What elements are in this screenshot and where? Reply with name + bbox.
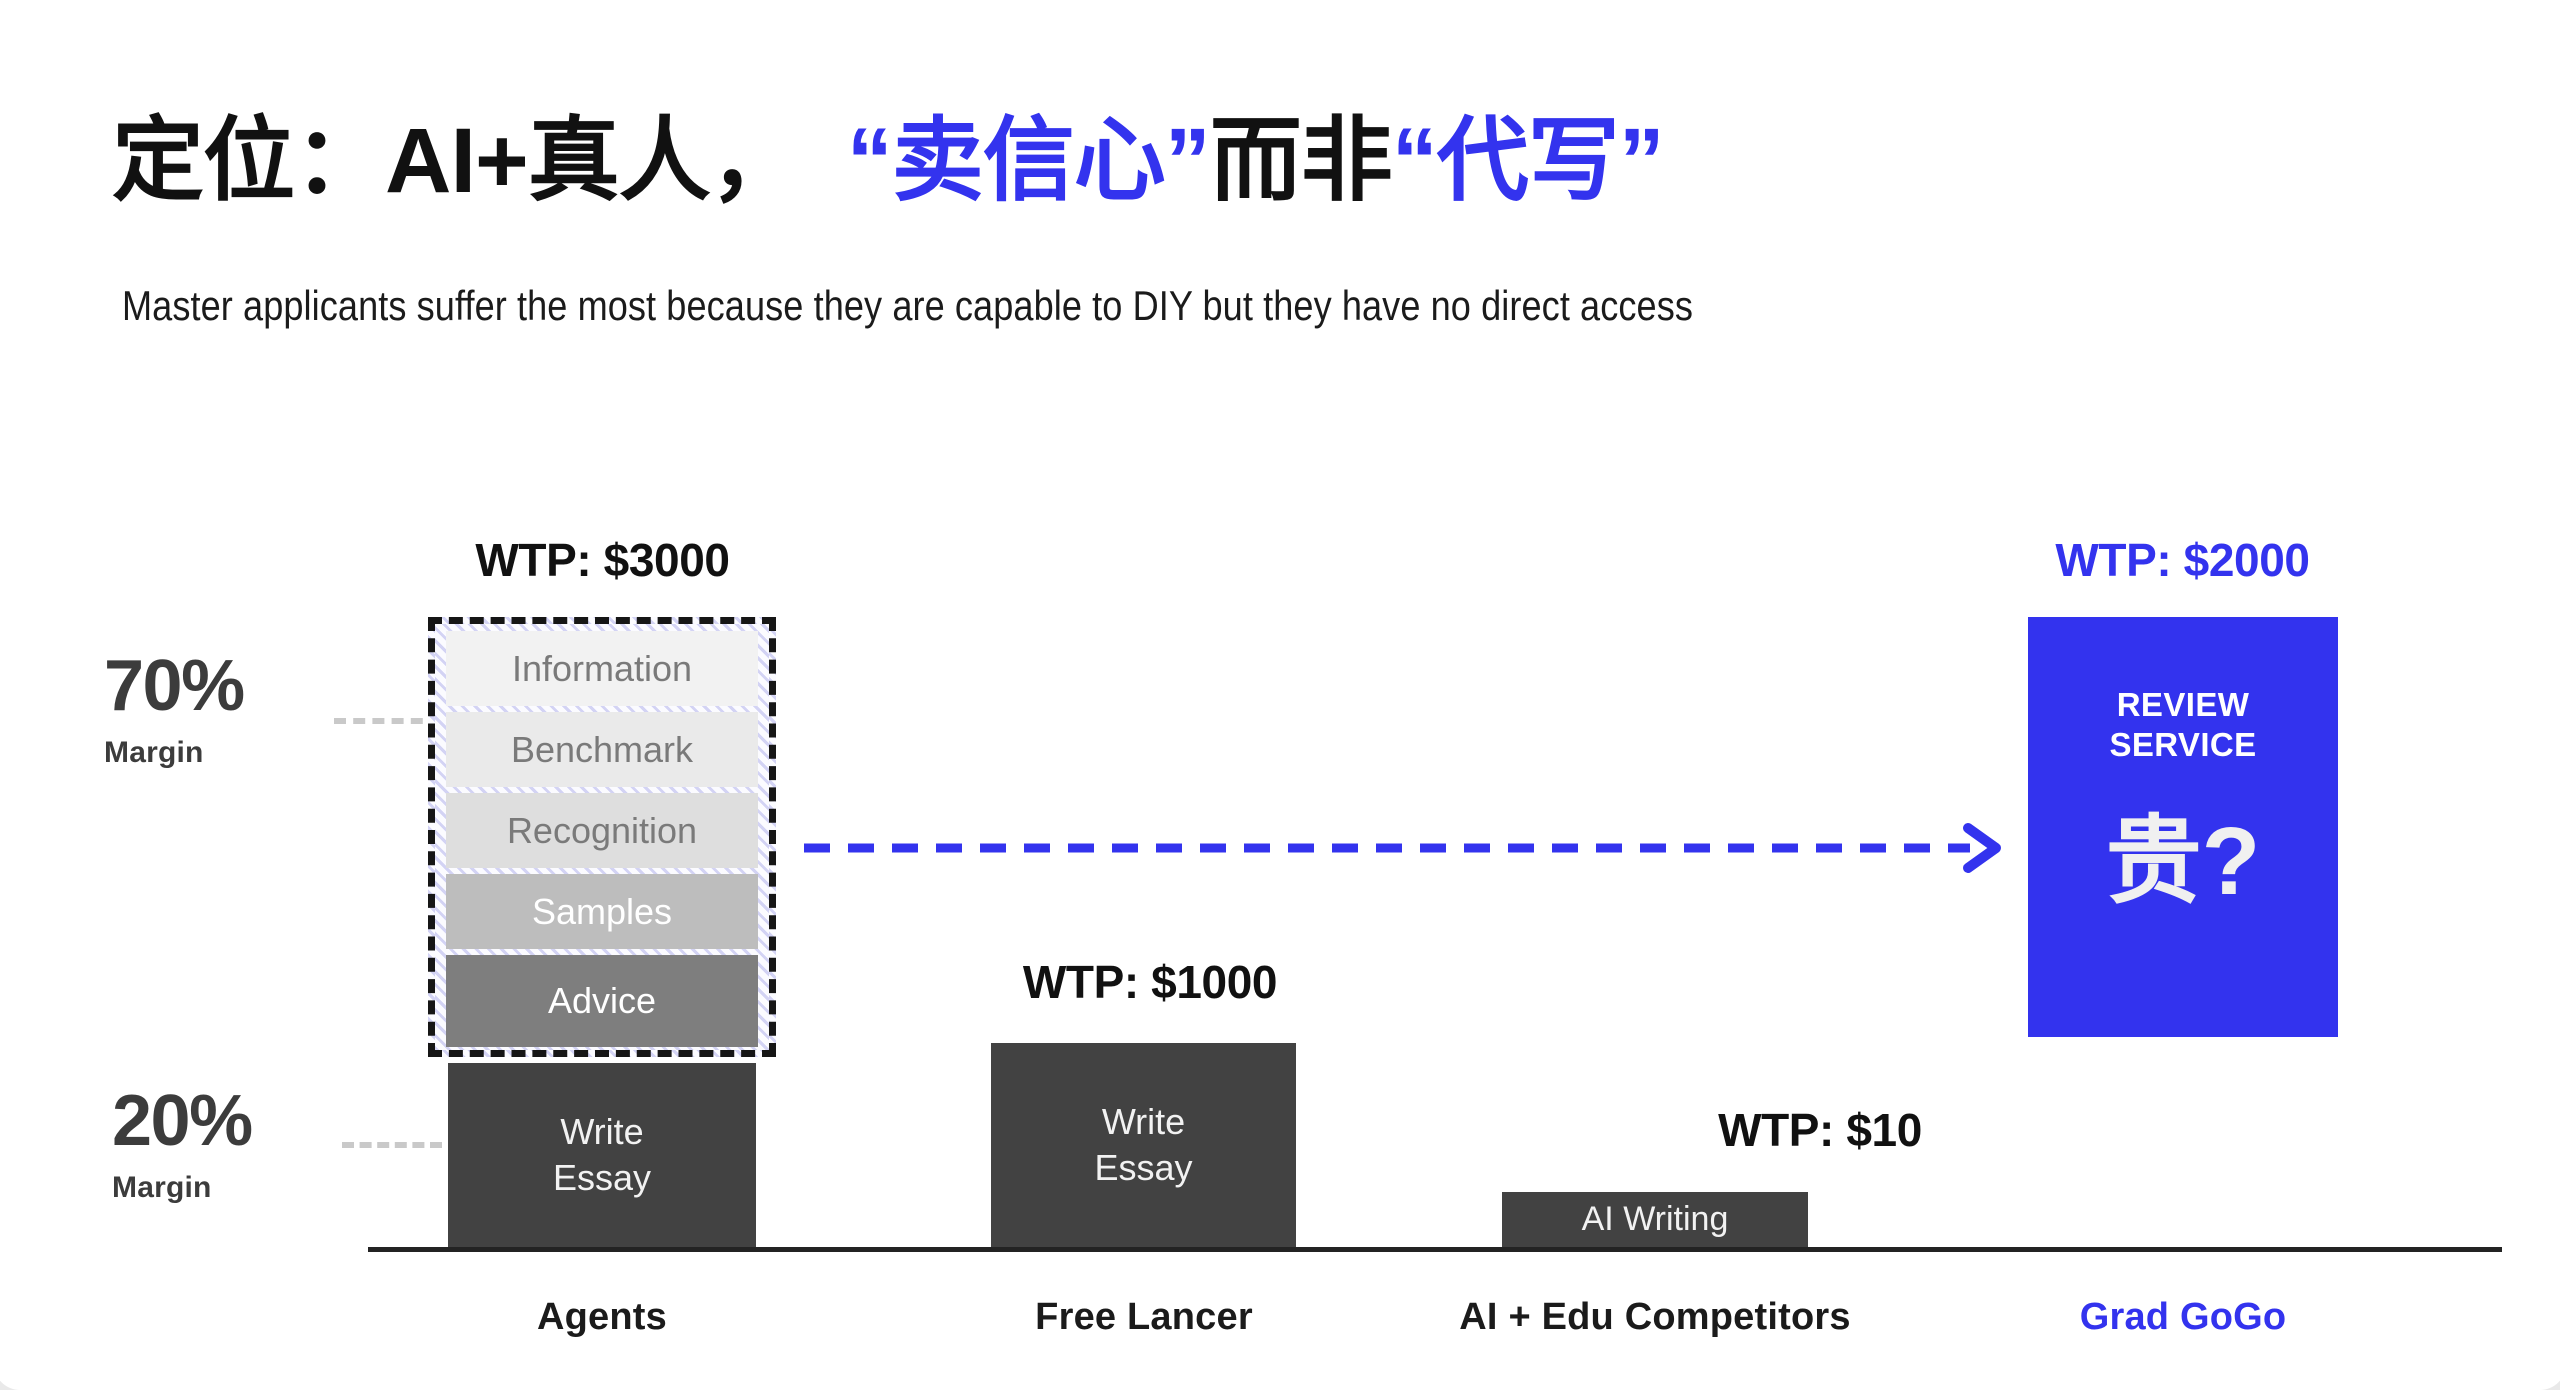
margin-low-label: Margin	[112, 1171, 252, 1205]
review-card-title-line1: REVIEW	[2117, 686, 2250, 723]
margin-annotation-low: 20% Margin	[112, 1085, 252, 1205]
grad-gogo-review-service-card[interactable]: REVIEW SERVICE 贵?	[2028, 617, 2338, 1037]
wtp-label-free-lancer: WTP: $1000	[700, 955, 1600, 1009]
bar-free-lancer-write-essay[interactable]: Write Essay	[991, 1043, 1296, 1247]
segment-information[interactable]: Information	[446, 631, 758, 706]
margin-high-leader-line	[334, 718, 442, 724]
bar-agents-line2: Essay	[553, 1155, 651, 1201]
flow-arrow	[800, 820, 2030, 876]
review-card-question: 贵?	[2106, 814, 2261, 910]
review-card-title: REVIEW SERVICE	[2109, 685, 2256, 766]
bar-agents-line1: Write	[560, 1109, 643, 1155]
margin-high-label: Margin	[104, 736, 244, 770]
category-label-agents: Agents	[430, 1296, 774, 1339]
chart-baseline-axis	[368, 1247, 2502, 1252]
margin-annotation-high: 70% Margin	[104, 650, 244, 770]
bar-agents-write-essay[interactable]: Write Essay	[448, 1063, 756, 1247]
wtp-label-grad-gogo: WTP: $2000	[1910, 533, 2455, 587]
bar-ai-writing[interactable]: AI Writing	[1502, 1192, 1808, 1247]
slide-canvas: 定位：AI+真人，“卖信心”而非“代写” Master applicants s…	[0, 0, 2560, 1380]
segment-samples[interactable]: Samples	[446, 874, 758, 949]
category-label-free-lancer: Free Lancer	[972, 1296, 1316, 1339]
segment-benchmark[interactable]: Benchmark	[446, 712, 758, 787]
category-label-grad-gogo: Grad GoGo	[2011, 1296, 2355, 1339]
bar-free-lancer-line2: Essay	[1094, 1145, 1192, 1191]
category-label-ai-edu: AI + Edu Competitors	[1380, 1296, 1930, 1339]
bar-free-lancer-line1: Write	[1102, 1099, 1185, 1145]
margin-low-leader-line	[342, 1142, 442, 1148]
margin-high-value: 70%	[104, 650, 244, 722]
wtp-margin-bar-chart: 70% Margin 20% Margin WTP: $3000 Informa…	[0, 0, 2560, 1380]
flow-arrow-icon	[800, 820, 2030, 876]
wtp-label-agents: WTP: $3000	[330, 533, 875, 587]
segment-recognition[interactable]: Recognition	[446, 793, 758, 868]
margin-low-value: 20%	[112, 1085, 252, 1157]
wtp-label-ai-edu: WTP: $10	[1370, 1103, 2270, 1157]
review-card-title-line2: SERVICE	[2109, 726, 2256, 763]
